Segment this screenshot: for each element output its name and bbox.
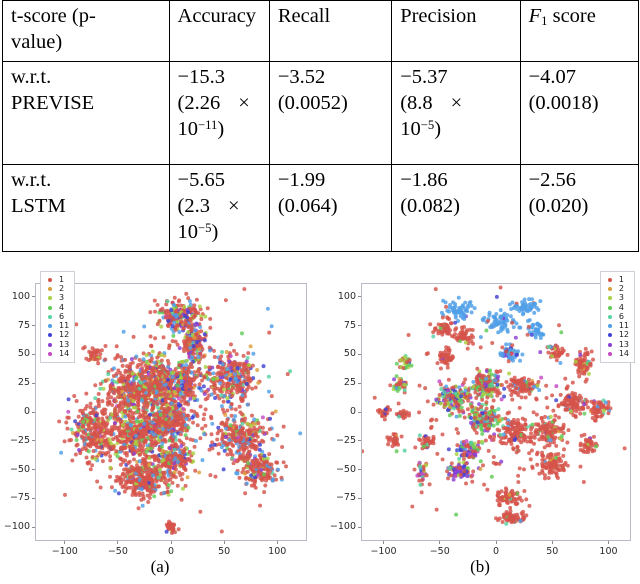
legend-swatch-4-icon (48, 306, 52, 310)
x-tick-label: −100 (41, 546, 89, 557)
legend-b: 1234611121314 (600, 271, 635, 363)
figure-row: −100−50050100−100−75−50−250255075100 123… (0, 268, 640, 584)
table-row: w.r.t. PREVISE −15.3 (2.26× 10−11) −3.52… (3, 62, 639, 165)
legend-swatch-2-icon (608, 287, 612, 291)
pvalue-value: (0.064) (278, 194, 384, 220)
y-tick-mark (32, 498, 35, 499)
legend-label: 6 (619, 313, 624, 321)
cell-previse-precision: −5.37 (8.8× 10−5) (392, 62, 520, 165)
legend-item[interactable]: 11 (605, 321, 629, 330)
pvalue-close-paren: ) (434, 118, 441, 140)
legend-item[interactable]: 2 (605, 284, 629, 293)
legend-label: 4 (619, 304, 624, 312)
header-cell-recall: Recall (269, 1, 391, 62)
pvalue-exponent: −5 (198, 221, 212, 235)
y-tick-mark (358, 383, 361, 384)
legend-label: 3 (59, 294, 64, 302)
x-tick-mark (383, 541, 384, 544)
scatter-panel-a: −100−50050100−100−75−50−250255075100 123… (0, 268, 320, 584)
y-tick-label: 0 (319, 406, 356, 417)
header-tscore-line1: t-score (p- (11, 4, 162, 30)
pvalue-power: 10−11) (178, 117, 262, 143)
cell-previse-accuracy: −15.3 (2.26× 10−11) (169, 62, 269, 165)
legend-label: 12 (59, 331, 69, 339)
pvalue-mantissa: (2.26 (178, 92, 221, 114)
legend-swatch-13-icon (48, 343, 52, 347)
x-tick-mark (277, 541, 278, 544)
scatter-panel-b: −100−50050100−100−75−50−250255075100 123… (320, 268, 640, 584)
pvalue-times: × (451, 92, 463, 114)
pvalue-exponent: −11 (198, 118, 217, 132)
tscore-value: −2.56 (529, 168, 631, 194)
legend-swatch-11-icon (48, 324, 52, 328)
legend-label: 13 (59, 341, 69, 349)
header-cell-tscore: t-score (p- value) (3, 1, 170, 62)
legend-label: 13 (619, 341, 629, 349)
y-tick-label: 100 (0, 291, 30, 302)
x-tick-mark (608, 541, 609, 544)
legend-swatch-3-icon (608, 296, 612, 300)
legend-swatch-13-icon (608, 343, 612, 347)
scatter-points-a (36, 284, 306, 540)
legend-item[interactable]: 6 (605, 312, 629, 321)
legend-swatch-6-icon (608, 315, 612, 319)
y-tick-label: −25 (0, 435, 30, 446)
cell-lstm-recall: −1.99 (0.064) (269, 165, 391, 252)
plot-area-a (35, 283, 307, 541)
tscore-value: −3.52 (278, 65, 384, 91)
legend-swatch-14-icon (48, 352, 52, 356)
y-tick-mark (32, 440, 35, 441)
header-tscore-line2: value) (11, 30, 162, 56)
pvalue-times: × (228, 195, 240, 217)
caption-a: (a) (0, 557, 320, 577)
plot-area-b (361, 283, 631, 541)
pvalue-close-paren: ) (212, 221, 219, 243)
pvalue-base: 10 (178, 118, 199, 140)
legend-item[interactable]: 13 (605, 340, 629, 349)
table-header-row: t-score (p- value) Accuracy Recall Preci… (3, 1, 639, 62)
legend-label: 1 (59, 276, 64, 284)
cell-lstm-f1: −2.56 (0.020) (520, 165, 638, 252)
pvalue-value: (2.26× (178, 91, 262, 117)
legend-label: 14 (59, 350, 69, 358)
x-tick-mark (64, 541, 65, 544)
legend-swatch-6-icon (48, 315, 52, 319)
tscore-value: −15.3 (178, 65, 262, 91)
row-label-line1: w.r.t. (11, 168, 162, 194)
row-label-line1: w.r.t. (11, 65, 162, 91)
legend-item[interactable]: 11 (45, 321, 69, 330)
header-cell-accuracy: Accuracy (169, 1, 269, 62)
y-tick-mark (32, 469, 35, 470)
tscore-value: −1.99 (278, 168, 384, 194)
y-tick-label: 100 (319, 291, 356, 302)
y-tick-mark (358, 498, 361, 499)
x-tick-mark (439, 541, 440, 544)
row-label-line2: PREVISE (11, 91, 162, 117)
header-cell-precision: Precision (392, 1, 520, 62)
pvalue-value: (0.020) (529, 194, 631, 220)
pvalue-power: 10−5) (178, 220, 262, 246)
legend-label: 11 (59, 322, 69, 330)
x-tick-label: 50 (200, 546, 248, 557)
legend-label: 1 (619, 276, 624, 284)
legend-swatch-12-icon (48, 333, 52, 337)
row-label-lstm: w.r.t. LSTM (3, 165, 170, 252)
x-tick-mark (552, 541, 553, 544)
legend-label: 6 (59, 313, 64, 321)
y-tick-label: −50 (319, 464, 356, 475)
legend-label: 4 (59, 304, 64, 312)
x-tick-label: 50 (528, 546, 576, 557)
legend-swatch-14-icon (608, 352, 612, 356)
y-tick-label: −100 (319, 521, 356, 532)
y-tick-mark (32, 383, 35, 384)
tscore-value: −1.86 (400, 168, 512, 194)
legend-swatch-2-icon (48, 287, 52, 291)
scatter-points-b (362, 284, 630, 540)
pvalue-times: × (238, 92, 250, 114)
x-tick-label: −50 (416, 546, 464, 557)
y-tick-mark (32, 325, 35, 326)
x-tick-mark (171, 541, 172, 544)
y-tick-label: 75 (319, 320, 356, 331)
cell-previse-f1: −4.07 (0.0018) (520, 62, 638, 165)
stats-table-container: t-score (p- value) Accuracy Recall Preci… (0, 0, 640, 238)
table-row: w.r.t. LSTM −5.65 (2.3× 10−5) −1.99 (0.0… (3, 165, 639, 252)
legend-label: 2 (59, 285, 64, 293)
y-tick-label: −25 (319, 435, 356, 446)
y-tick-label: 50 (319, 348, 356, 359)
pvalue-value: (2.3× (178, 194, 262, 220)
pvalue-mantissa: (2.3 (178, 195, 210, 217)
cell-previse-recall: −3.52 (0.0052) (269, 62, 391, 165)
pvalue-close-paren: ) (217, 118, 224, 140)
pvalue-value: (8.8× (400, 91, 512, 117)
legend-label: 11 (619, 322, 629, 330)
y-tick-mark (358, 412, 361, 413)
x-tick-label: 0 (147, 546, 195, 557)
y-tick-label: −75 (319, 492, 356, 503)
legend-swatch-1-icon (608, 278, 612, 282)
legend-a: 1234611121314 (40, 271, 75, 363)
legend-swatch-12-icon (608, 333, 612, 337)
y-tick-label: 25 (0, 377, 30, 388)
x-tick-mark (224, 541, 225, 544)
y-tick-mark (358, 296, 361, 297)
x-tick-label: 100 (585, 546, 633, 557)
legend-label: 12 (619, 331, 629, 339)
y-tick-label: 75 (0, 320, 30, 331)
legend-swatch-4-icon (608, 306, 612, 310)
x-tick-label: 100 (253, 546, 301, 557)
y-tick-label: 0 (0, 406, 30, 417)
table-header: t-score (p- value) Accuracy Recall Preci… (3, 1, 639, 62)
y-tick-label: −100 (0, 521, 30, 532)
pvalue-power: 10−5) (400, 117, 512, 143)
y-tick-mark (358, 325, 361, 326)
y-tick-mark (358, 469, 361, 470)
table-body: w.r.t. PREVISE −15.3 (2.26× 10−11) −3.52… (3, 62, 639, 252)
row-label-previse: w.r.t. PREVISE (3, 62, 170, 165)
y-tick-mark (32, 412, 35, 413)
x-tick-label: −100 (360, 546, 408, 557)
f1-symbol: F (529, 5, 542, 27)
header-cell-f1score: F1 score (520, 1, 638, 62)
x-tick-mark (496, 541, 497, 544)
y-tick-label: 25 (319, 377, 356, 388)
legend-label: 3 (619, 294, 624, 302)
x-tick-label: −50 (94, 546, 142, 557)
pvalue-value: (0.0018) (529, 91, 631, 117)
y-tick-mark (32, 527, 35, 528)
legend-item[interactable]: 13 (45, 340, 69, 349)
y-tick-mark (358, 440, 361, 441)
x-tick-label: 0 (472, 546, 520, 557)
legend-item[interactable]: 12 (605, 331, 629, 340)
x-tick-mark (117, 541, 118, 544)
legend-item[interactable]: 4 (605, 303, 629, 312)
caption-b: (b) (320, 557, 640, 577)
pvalue-exponent: −5 (421, 118, 435, 132)
legend-swatch-3-icon (48, 296, 52, 300)
legend-item[interactable]: 2 (45, 284, 69, 293)
row-label-line2: LSTM (11, 194, 162, 220)
tscore-value: −5.37 (400, 65, 512, 91)
legend-item[interactable]: 14 (605, 349, 629, 358)
y-tick-mark (32, 354, 35, 355)
f1-score-word: score (547, 5, 595, 27)
y-tick-mark (358, 527, 361, 528)
cell-lstm-accuracy: −5.65 (2.3× 10−5) (169, 165, 269, 252)
tscore-value: −5.65 (178, 168, 262, 194)
pvalue-base: 10 (400, 118, 421, 140)
legend-swatch-1-icon (48, 278, 52, 282)
cell-lstm-precision: −1.86 (0.082) (392, 165, 520, 252)
pvalue-value: (0.082) (400, 194, 512, 220)
legend-label: 2 (619, 285, 624, 293)
legend-item[interactable]: 3 (45, 294, 69, 303)
legend-swatch-11-icon (608, 324, 612, 328)
y-tick-label: −50 (0, 464, 30, 475)
legend-item[interactable]: 3 (605, 294, 629, 303)
pvalue-mantissa: (8.8 (400, 92, 432, 114)
legend-item[interactable]: 14 (45, 349, 69, 358)
pvalue-value: (0.0052) (278, 91, 384, 117)
legend-item[interactable]: 12 (45, 331, 69, 340)
significance-table: t-score (p- value) Accuracy Recall Preci… (2, 0, 639, 252)
pvalue-base: 10 (178, 221, 199, 243)
tscore-value: −4.07 (529, 65, 631, 91)
legend-item[interactable]: 6 (45, 312, 69, 321)
y-tick-mark (32, 296, 35, 297)
legend-item[interactable]: 4 (45, 303, 69, 312)
legend-label: 14 (619, 350, 629, 358)
y-tick-label: −75 (0, 492, 30, 503)
y-tick-label: 50 (0, 348, 30, 359)
legend-item[interactable]: 1 (605, 275, 629, 284)
y-tick-mark (358, 354, 361, 355)
legend-item[interactable]: 1 (45, 275, 69, 284)
